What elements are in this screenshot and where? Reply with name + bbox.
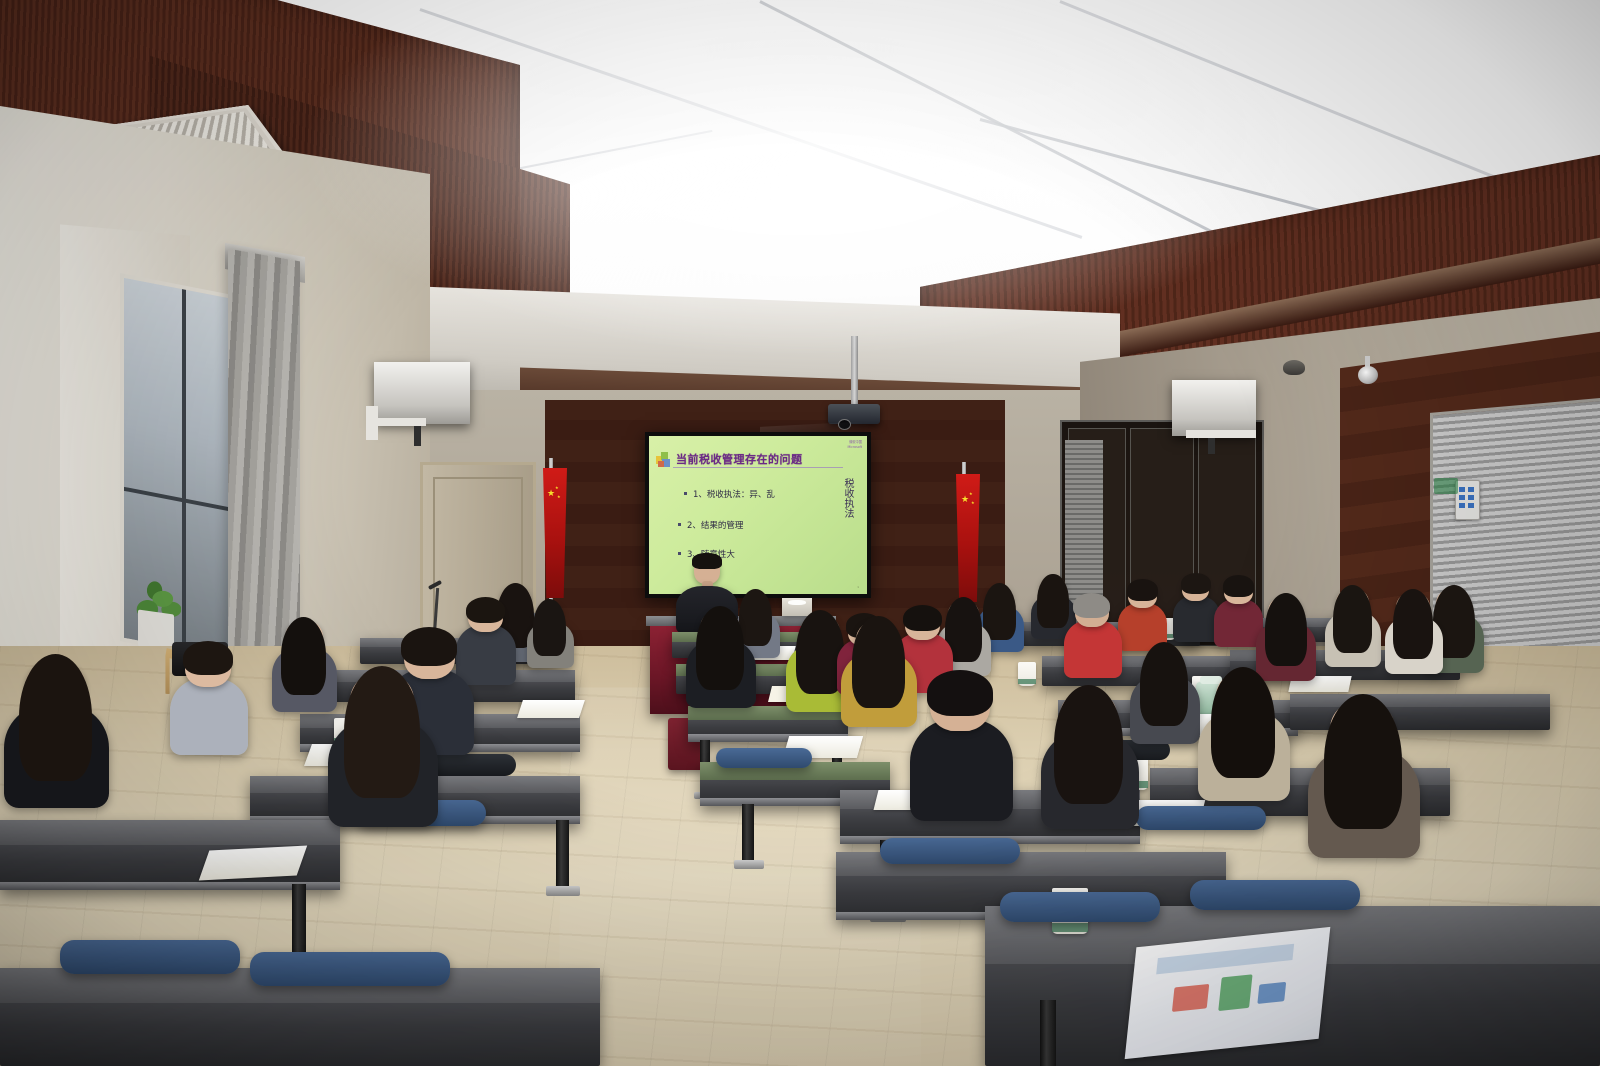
attendee-torso (1173, 596, 1220, 643)
desk-leg (556, 820, 569, 892)
attendee-hair (1073, 593, 1110, 619)
desk-leg-foot (546, 886, 580, 896)
speaker-bracket-right (1186, 430, 1256, 438)
paper-cup-center[interactable] (1018, 662, 1036, 686)
attendee-hair (696, 606, 744, 690)
exit-sign (1434, 478, 1458, 494)
attendee-hair (401, 627, 457, 665)
slide-logo: 微软中国 Microsoft (847, 440, 862, 450)
wall-speaker-left (374, 362, 470, 424)
presentation-slide: 微软中国 Microsoft 当前税收管理存在的问题 1、税收执法：异、乱 2、… (649, 436, 867, 594)
attendee-torso (1064, 620, 1122, 678)
chair-front-left-2[interactable] (250, 952, 450, 986)
attendee-hair (533, 599, 566, 656)
flag-star-large-left: ★ (547, 490, 555, 499)
brochure-graphic-green (1218, 974, 1253, 1011)
brochure-graphic-red (1172, 984, 1209, 1012)
projector-mount-pole (851, 336, 858, 406)
conference-room-photo: ★ ★ ★ ★ ★ ★ 微软中国 Microsoft 当前税收管理存在的问题 (0, 0, 1600, 1066)
slide-page-marker: 1 (857, 585, 859, 589)
flag-star-small-right: ★ (969, 492, 973, 496)
attendee-hair (1393, 589, 1434, 659)
attendee-hair (1333, 585, 1372, 653)
chair-front-right[interactable] (1000, 892, 1160, 922)
slide-decoration-icon (656, 452, 672, 468)
attendee-hair (1127, 579, 1158, 601)
flag-star-small-right-2: ★ (971, 501, 975, 505)
tissue-sheet (788, 600, 806, 605)
attendee-hair (903, 605, 942, 632)
projection-screen: 微软中国 Microsoft 当前税收管理存在的问题 1、税收执法：异、乱 2、… (645, 432, 871, 598)
desk-leg-front-right (1040, 1000, 1056, 1066)
desk-top-surface (1290, 694, 1550, 707)
chair-row3-center[interactable] (716, 748, 812, 768)
slide-vertical-text: 税收执法 (839, 478, 853, 518)
desk-front-edge (0, 882, 340, 890)
desk-leg-foot (734, 860, 764, 869)
flag-star-small-left-2: ★ (557, 495, 561, 499)
slide-bullet-2: 2、结果的管理 (687, 519, 743, 531)
cup-green-band (1052, 923, 1088, 932)
chair-mid-center[interactable] (880, 838, 1020, 864)
slide-logo-line2: Microsoft (847, 445, 862, 450)
slide-title: 当前税收管理存在的问题 (676, 451, 803, 467)
attendee-hair (344, 666, 420, 798)
attendee-hair (1324, 694, 1402, 829)
attendee-hair (183, 641, 233, 675)
attendee-hair (281, 617, 326, 695)
attendee-hair (1223, 575, 1254, 597)
attendee-hair (927, 670, 993, 715)
colorful-brochure[interactable] (1125, 927, 1331, 1059)
wall-keypad-panel[interactable] (1455, 480, 1480, 520)
national-flag-left: ★ ★ ★ (543, 468, 567, 598)
chair-mid-right[interactable] (1136, 806, 1266, 830)
attendee-torso (910, 719, 1013, 821)
handout-left-front[interactable] (199, 846, 307, 881)
slide-bullet-1: 1、税收执法：异、乱 (693, 488, 775, 500)
smoke-detector-icon (1283, 360, 1305, 375)
flag-star-small-left: ★ (555, 486, 559, 490)
desk-leg (742, 804, 754, 866)
national-flag-right: ★ ★ ★ (956, 474, 980, 602)
chair-front-right-2[interactable] (1190, 880, 1360, 910)
cctv-dome-camera-icon (1358, 366, 1378, 384)
attendee-hair (1265, 593, 1307, 666)
tissue-box (782, 598, 812, 616)
brochure-graphic-blue (1257, 981, 1286, 1004)
attendee-hair (852, 616, 905, 708)
cup-green-band (1018, 679, 1036, 684)
attendee-torso (456, 625, 516, 685)
attendee-hair (1037, 574, 1068, 628)
attendee-torso (170, 678, 248, 756)
attendee-hair (739, 589, 772, 646)
attendee-hair (983, 583, 1016, 640)
chair-front-left[interactable] (60, 940, 240, 974)
flag-star-large-right: ★ (961, 496, 969, 505)
handout-left-row2[interactable] (517, 700, 585, 718)
attendee-hair (466, 597, 505, 624)
attendee-hair (1140, 642, 1188, 726)
attendee-hair (1054, 685, 1123, 804)
speaker-wallplate-left (366, 406, 378, 440)
brochure-header-band (1157, 944, 1294, 974)
desk-top-surface (0, 820, 340, 845)
presenter-hair (692, 553, 722, 569)
attendee-hair (1211, 667, 1275, 778)
attendee-hair (19, 654, 92, 781)
attendee-hair (1181, 573, 1211, 594)
wall-speaker-right (1172, 380, 1256, 436)
slide-title-underline (673, 467, 843, 468)
